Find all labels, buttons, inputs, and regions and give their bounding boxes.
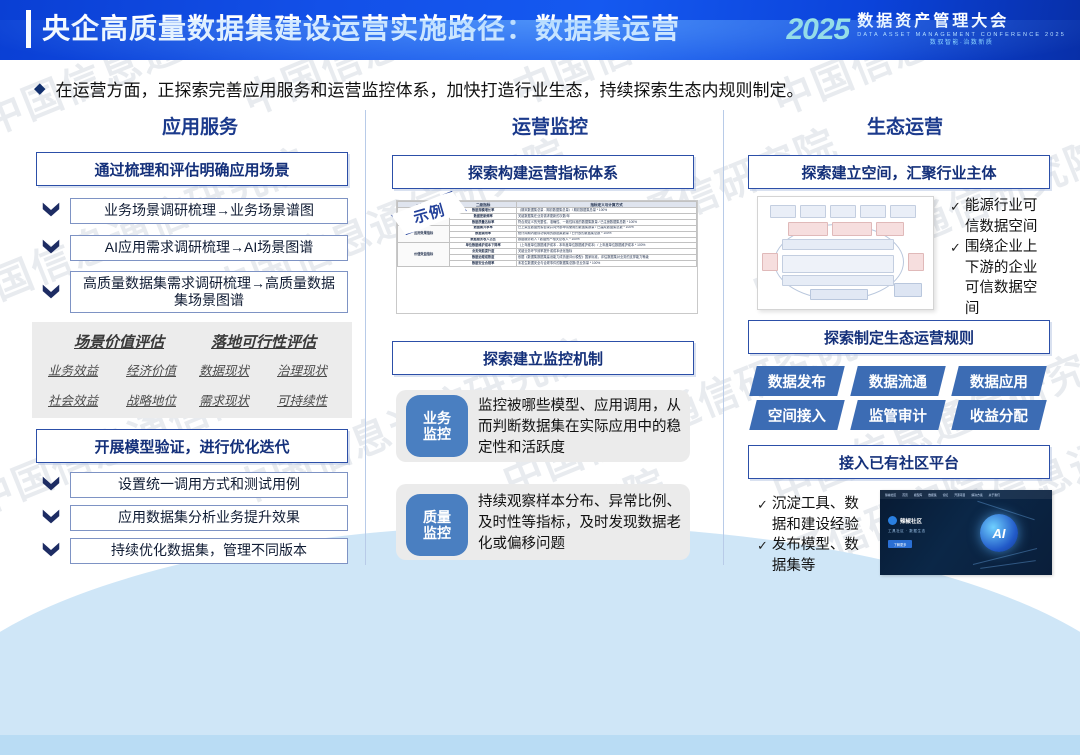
logo-text-group: 数据资产管理大会 DATA ASSET MANAGEMENT CONFERENC… bbox=[857, 13, 1066, 48]
platform-nav-item[interactable]: 首页 bbox=[902, 493, 908, 497]
diamond-bullet-icon: ◆ bbox=[34, 81, 46, 96]
eco-rule-tag-label: 收益分配 bbox=[970, 405, 1028, 426]
column-title-operation-monitoring: 运营监控 bbox=[410, 112, 690, 139]
diagram-band bbox=[782, 275, 894, 286]
chevron-down-icon bbox=[40, 236, 62, 258]
trusted-data-space-diagram bbox=[757, 196, 934, 310]
diagram-side-node bbox=[762, 253, 778, 271]
table-cell: 数据安全合规率 bbox=[450, 261, 517, 267]
platform-nav-item[interactable]: 辣椒社区 bbox=[885, 493, 896, 497]
assessment-item: 战略地位 bbox=[126, 390, 176, 409]
diagram-node bbox=[800, 205, 826, 218]
diagram-node bbox=[876, 222, 904, 236]
eco-rule-tag-label: 空间接入 bbox=[768, 405, 826, 426]
assessment-item: 业务效益 bbox=[48, 360, 98, 379]
middle-banner-monitoring-mechanism: 探索建立监控机制 bbox=[392, 341, 694, 375]
eco-rule-tag-circulation: 数据流通 bbox=[850, 366, 945, 396]
eco-rule-tag-label: 数据发布 bbox=[768, 371, 826, 392]
platform-nav-item[interactable]: 模型库 bbox=[914, 493, 922, 497]
platform-subtitle: 工具社区 · 数据生态 bbox=[888, 529, 926, 534]
right-checklist-community: ✓ 沉淀工具、数据和建设经验 ✓ 发布模型、数据集等 bbox=[757, 494, 872, 576]
table-cell-group: 价值效益指标 bbox=[398, 243, 450, 266]
diagram-footer-node bbox=[810, 289, 868, 300]
logo-year: 2025 bbox=[787, 15, 850, 45]
platform-nav-item[interactable]: 关于我们 bbox=[989, 493, 1000, 497]
platform-name: 辣椒社区 bbox=[900, 517, 922, 525]
platform-cta-button: 了解更多 bbox=[888, 540, 912, 548]
diagram-node bbox=[770, 205, 796, 218]
summary-bullet: ◆ 在运营方面，正探索完善应用服务和运营监控体系，加快打造行业生态，持续探索生态… bbox=[34, 74, 1054, 102]
left-step2-item-3: 持续优化数据集，管理不同版本 bbox=[70, 538, 348, 564]
monitor-desc-quality: 持续观察样本分布、异常比例、及时性等指标，及时发现数据老化或偏移问题 bbox=[478, 492, 693, 555]
assessment-item: 可持续性 bbox=[277, 390, 327, 409]
decor-line bbox=[980, 560, 1036, 569]
platform-nav-item[interactable]: 开源项目 bbox=[954, 493, 965, 497]
platform-nav-bar: 辣椒社区首页模型库数据集论坛开源项目解决方案关于我们 bbox=[880, 490, 1052, 499]
check-icon: ✓ bbox=[950, 237, 961, 258]
column-divider-2 bbox=[723, 110, 724, 565]
eco-rule-tag-label: 数据流通 bbox=[869, 371, 927, 392]
community-platform-screenshot: 辣椒社区首页模型库数据集论坛开源项目解决方案关于我们 辣椒社区 工具社区 · 数… bbox=[880, 490, 1052, 575]
left-banner-model-validation: 开展模型验证，进行优化迭代 bbox=[36, 429, 348, 463]
eco-rule-tag-publish: 数据发布 bbox=[749, 366, 844, 396]
title-accent-bar bbox=[26, 10, 31, 48]
chevron-down-icon bbox=[40, 199, 62, 221]
list-item: ✓ 发布模型、数据集等 bbox=[757, 535, 872, 576]
eco-rule-tag-audit: 监管审计 bbox=[850, 400, 945, 430]
diagram-node bbox=[860, 205, 886, 218]
ai-orb-badge: AI bbox=[980, 514, 1018, 552]
eco-rule-tag-label: 监管审计 bbox=[869, 405, 927, 426]
diagram-footer-node bbox=[894, 283, 922, 297]
logo-slogan: 数驭智能·治数新质 bbox=[930, 39, 994, 48]
page-header: 央企高质量数据集建设运营实施路径：数据集运营 2025 数据资产管理大会 DAT… bbox=[0, 0, 1080, 60]
monitor-pill-business: 业务 监控 bbox=[406, 395, 468, 457]
platform-nav-item[interactable]: 数据集 bbox=[928, 493, 936, 497]
chevron-down-icon bbox=[40, 539, 62, 561]
diagram-node bbox=[830, 205, 856, 218]
platform-logo-dot-icon bbox=[888, 516, 897, 525]
monitor-pill-label: 质量 监控 bbox=[423, 509, 451, 541]
column-title-application-service: 应用服务 bbox=[60, 112, 340, 139]
middle-banner-indicator-system: 探索构建运营指标体系 bbox=[392, 155, 694, 189]
diagram-node bbox=[788, 222, 828, 236]
logo-english-name: DATA ASSET MANAGEMENT CONFERENCE 2025 bbox=[857, 31, 1066, 39]
eco-rule-tag-application: 数据应用 bbox=[951, 366, 1046, 396]
assessment-item: 数据现状 bbox=[199, 360, 249, 379]
right-banner-build-space: 探索建立空间，汇聚行业主体 bbox=[748, 155, 1050, 189]
assessment-item: 需求现状 bbox=[199, 390, 249, 409]
monitor-pill-label: 业务 监控 bbox=[423, 410, 451, 442]
checklist-text: 沉淀工具、数据和建设经验 bbox=[772, 494, 872, 535]
diagram-node bbox=[890, 205, 916, 218]
monitor-pill-quality: 质量 监控 bbox=[406, 494, 468, 556]
assessment-item: 治理现状 bbox=[277, 360, 327, 379]
left-banner-scenario: 通过梳理和评估明确应用场景 bbox=[36, 152, 348, 186]
column-divider-1 bbox=[365, 110, 366, 565]
monitor-desc-business: 监控被哪些模型、应用调用，从而判断数据集在实际应用中的稳定性和活跃度 bbox=[478, 396, 693, 459]
right-checklist-space: ✓ 能源行业可信数据空间 ✓ 围绕企业上下游的企业可信数据空间 bbox=[950, 196, 1050, 319]
assessment-item: 社会效益 bbox=[48, 390, 98, 409]
left-step-item-2: AI应用需求调研梳理→AI场景图谱 bbox=[70, 235, 348, 261]
left-step2-item-1: 设置统一调用方式和测试用例 bbox=[70, 472, 348, 498]
check-icon: ✓ bbox=[950, 196, 961, 217]
diagram-node bbox=[832, 222, 872, 236]
check-icon: ✓ bbox=[757, 494, 768, 515]
list-item: ✓ 沉淀工具、数据和建设经验 bbox=[757, 494, 872, 535]
platform-logo: 辣椒社区 bbox=[888, 516, 922, 525]
platform-nav-item[interactable]: 解决方案 bbox=[971, 493, 982, 497]
platform-nav-item[interactable]: 论坛 bbox=[943, 493, 949, 497]
table-cell: 未发生数据安全与合规事件的数据集总数/总业务量 * 100% bbox=[517, 261, 697, 267]
checklist-text: 围绕企业上下游的企业可信数据空间 bbox=[965, 237, 1050, 319]
assessment-item: 经济价值 bbox=[126, 360, 176, 379]
chevron-down-icon bbox=[40, 473, 62, 495]
diagram-band bbox=[782, 255, 894, 273]
left-step2-item-2: 应用数据集分析业务提升效果 bbox=[70, 505, 348, 531]
diagram-side-node bbox=[908, 253, 924, 271]
check-icon: ✓ bbox=[757, 535, 768, 556]
left-step-item-3: 高质量数据集需求调研梳理→高质量数据集场景图谱 bbox=[70, 271, 348, 313]
checklist-text: 发布模型、数据集等 bbox=[772, 535, 872, 576]
summary-bullet-text: 在运营方面，正探索完善应用服务和运营监控体系，加快打造行业生态，持续探索生态内规… bbox=[56, 76, 804, 101]
page-title: 央企高质量数据集建设运营实施路径：数据集运营 bbox=[42, 9, 680, 49]
eco-rule-tag-space-access: 空间接入 bbox=[749, 400, 844, 430]
column-title-ecosystem-operation: 生态运营 bbox=[765, 112, 1045, 139]
list-item: ✓ 能源行业可信数据空间 bbox=[950, 196, 1050, 237]
list-item: ✓ 围绕企业上下游的企业可信数据空间 bbox=[950, 237, 1050, 319]
diagram-band bbox=[782, 239, 894, 250]
right-banner-eco-rules: 探索制定生态运营规则 bbox=[748, 320, 1050, 354]
logo-chinese-name: 数据资产管理大会 bbox=[857, 13, 1009, 31]
checklist-text: 能源行业可信数据空间 bbox=[965, 196, 1050, 237]
assessment-group-title-feasibility: 落地可行性评估 bbox=[211, 331, 316, 352]
conference-logo: 2025 数据资产管理大会 DATA ASSET MANAGEMENT CONF… bbox=[787, 6, 1067, 54]
assessment-group-title-value: 场景价值评估 bbox=[74, 331, 164, 352]
chevron-down-icon bbox=[40, 281, 62, 303]
right-banner-community-platform: 接入已有社区平台 bbox=[748, 445, 1050, 479]
eco-rule-tag-label: 数据应用 bbox=[970, 371, 1028, 392]
chevron-down-icon bbox=[40, 506, 62, 528]
left-step-item-1: 业务场景调研梳理→业务场景谱图 bbox=[70, 198, 348, 224]
eco-rule-tag-revenue: 收益分配 bbox=[951, 400, 1046, 430]
